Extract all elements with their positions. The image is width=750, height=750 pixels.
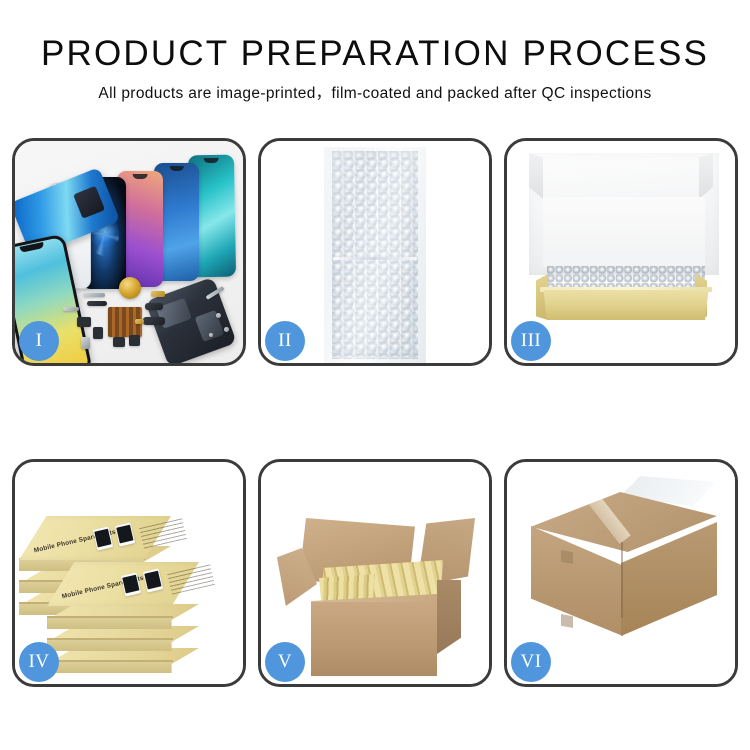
spare-part-contact bbox=[135, 319, 144, 324]
retail-box bbox=[47, 648, 199, 670]
spare-part-mic bbox=[113, 337, 125, 347]
retail-box-printed: Mobile Phone Spare Parts bbox=[47, 562, 199, 606]
process-step-panel-i: I bbox=[12, 138, 246, 366]
spare-part-shield bbox=[63, 307, 79, 311]
spare-part-camera-flex bbox=[143, 317, 165, 325]
retail-box bbox=[47, 604, 199, 626]
spare-part-screw bbox=[224, 327, 229, 332]
lcd-chip bbox=[73, 186, 105, 219]
process-step-panel-iv: Mobile Phone Spare Parts Mobile Phone Sp… bbox=[12, 459, 246, 687]
spare-part-connector bbox=[93, 327, 103, 339]
page-subtitle: All products are image-printed，film-coat… bbox=[0, 84, 750, 104]
step-badge-ii: II bbox=[265, 321, 305, 361]
process-step-panel-v: V bbox=[258, 459, 492, 687]
spare-part-flex-cable bbox=[87, 301, 107, 306]
spare-part-gold-connector bbox=[151, 291, 165, 297]
spare-part-button-flex bbox=[145, 303, 163, 310]
retail-box-edge bbox=[47, 660, 173, 662]
box-interior bbox=[543, 197, 705, 267]
plastic-highlight bbox=[324, 147, 426, 363]
process-step-panel-iii: III bbox=[504, 138, 738, 366]
retail-box-printed: Mobile Phone Spare Parts bbox=[19, 516, 171, 560]
spare-part-screw bbox=[216, 313, 221, 318]
page-header: PRODUCT PREPARATION PROCESS All products… bbox=[0, 0, 750, 104]
carton-front-panel bbox=[311, 602, 437, 676]
carton-corner-seam bbox=[621, 542, 623, 618]
step-badge-iii: III bbox=[511, 321, 551, 361]
page-title: PRODUCT PREPARATION PROCESS bbox=[0, 34, 750, 74]
process-step-panel-ii: II bbox=[258, 138, 492, 366]
retail-box-edge bbox=[47, 616, 173, 618]
retail-box-edge bbox=[47, 638, 173, 640]
vibration-motor-part bbox=[119, 277, 141, 299]
box-front-panel bbox=[540, 290, 712, 320]
spare-part-speaker bbox=[77, 317, 91, 327]
spare-part-screw bbox=[209, 333, 213, 337]
step-badge-i: I bbox=[19, 321, 59, 361]
spare-part-bracket bbox=[83, 293, 105, 297]
step-badge-v: V bbox=[265, 642, 305, 682]
step-badge-vi: VI bbox=[511, 642, 551, 682]
process-step-grid: I II III bbox=[12, 138, 738, 687]
spare-part-sim-tray bbox=[81, 337, 90, 349]
carton-handle-tab bbox=[561, 614, 573, 628]
retail-box bbox=[47, 626, 199, 648]
spare-part-taptic bbox=[129, 335, 140, 346]
step-badge-iv: IV bbox=[19, 642, 59, 682]
carton-handle-tab bbox=[561, 550, 573, 564]
process-step-panel-vi: VI bbox=[504, 459, 738, 687]
